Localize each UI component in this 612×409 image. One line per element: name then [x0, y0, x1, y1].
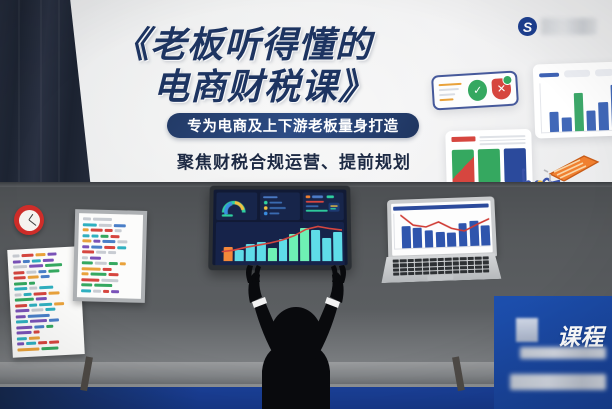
key[interactable]: [401, 272, 408, 275]
key[interactable]: [438, 271, 445, 274]
key[interactable]: [430, 271, 437, 274]
subtitle-secondary: 聚焦财税合规运营、提前规划: [163, 148, 425, 173]
key[interactable]: [415, 267, 422, 270]
document-row: [83, 223, 139, 227]
check-icon: ✓: [468, 79, 488, 101]
document-content: [77, 213, 143, 299]
key[interactable]: [400, 263, 407, 266]
key[interactable]: [475, 257, 482, 260]
key[interactable]: [460, 266, 467, 269]
dashboard-trend-line: [221, 225, 342, 261]
key[interactable]: [393, 259, 400, 262]
key[interactable]: [475, 261, 482, 264]
card-report-doc: [445, 129, 532, 189]
key[interactable]: [452, 262, 459, 265]
key[interactable]: [438, 262, 445, 265]
report-text-lines: [479, 135, 525, 145]
wall-clock-icon: [14, 205, 44, 235]
key[interactable]: [453, 270, 460, 273]
document-row: [82, 239, 138, 243]
card-approval-tag: ✓ ✕: [431, 70, 519, 110]
key[interactable]: [438, 266, 445, 269]
key[interactable]: [460, 257, 467, 260]
card-report-header: [451, 135, 525, 146]
key[interactable]: [475, 265, 482, 268]
brand-logo-icon: S: [518, 17, 537, 36]
document-row: [82, 267, 138, 271]
laptop-keyboard[interactable]: [393, 256, 489, 275]
key[interactable]: [408, 263, 415, 266]
laptop-screen[interactable]: [391, 200, 493, 255]
laptop-lid: [387, 196, 497, 260]
banner-line-redacted: [520, 347, 606, 359]
key[interactable]: [452, 257, 459, 260]
key[interactable]: [460, 270, 467, 273]
key[interactable]: [430, 267, 437, 270]
document-row: [82, 245, 138, 249]
document-row: [83, 228, 139, 232]
key[interactable]: [445, 270, 452, 273]
key[interactable]: [445, 266, 452, 269]
widget-stats: [303, 193, 344, 221]
document-row: [82, 234, 138, 238]
document-row: [17, 345, 79, 351]
key[interactable]: [408, 267, 415, 270]
document-row: [82, 256, 138, 260]
key[interactable]: [482, 265, 489, 268]
subtitle-badge-label: 专为电商及上下游老板量身打造: [187, 115, 398, 136]
key[interactable]: [482, 261, 489, 264]
banner-line2-redacted: [510, 374, 606, 390]
document-row: [82, 261, 138, 265]
desk-document-right: [73, 209, 147, 303]
subtitle-badge: 专为电商及上下游老板量身打造: [167, 113, 419, 138]
clock-face: [19, 210, 40, 231]
key[interactable]: [393, 272, 400, 275]
key[interactable]: [430, 262, 437, 265]
bar: [549, 112, 559, 132]
key[interactable]: [423, 271, 430, 274]
key[interactable]: [430, 258, 437, 261]
dashboard-bar-chart: [215, 222, 344, 265]
tag-text-lines: [439, 83, 463, 102]
laptop-trackpad[interactable]: [427, 275, 453, 281]
key[interactable]: [475, 269, 482, 272]
key[interactable]: [468, 265, 475, 268]
cross-icon: ✕: [491, 78, 511, 100]
dashboard-top-widgets: [216, 193, 344, 221]
key[interactable]: [467, 257, 474, 260]
document-row: [81, 289, 137, 293]
report-color-blocks: [452, 148, 527, 184]
brand-logo-glyph: S: [523, 20, 532, 34]
key[interactable]: [467, 261, 474, 264]
presenter-silhouette: [222, 263, 370, 409]
key[interactable]: [482, 256, 489, 259]
key[interactable]: [423, 263, 430, 266]
notification-dot-icon: [502, 75, 513, 86]
bar: [573, 93, 584, 132]
laptop-trend-line: [400, 207, 490, 248]
key[interactable]: [423, 258, 430, 261]
key[interactable]: [437, 258, 444, 261]
key[interactable]: [453, 266, 460, 269]
laptop-device[interactable]: [379, 196, 502, 282]
key[interactable]: [393, 268, 400, 271]
card-bar-chart-plot: [539, 81, 612, 134]
document-row: [83, 217, 139, 221]
key[interactable]: [415, 263, 422, 266]
key[interactable]: [445, 262, 452, 265]
document-row: [81, 283, 137, 287]
page-title-line2: 电商财税课》: [153, 58, 375, 110]
key[interactable]: [408, 272, 415, 275]
key[interactable]: [483, 269, 490, 272]
card-bar-chart: [533, 61, 612, 138]
document-row: [81, 278, 137, 282]
key[interactable]: [415, 271, 422, 274]
tablet-screen[interactable]: [212, 190, 347, 266]
widget-donut: [216, 193, 257, 221]
tablet-device[interactable]: [208, 186, 352, 271]
document-row: [82, 250, 138, 254]
bar: [562, 118, 572, 132]
brand-name-redacted: [541, 18, 597, 35]
key[interactable]: [460, 261, 467, 264]
key[interactable]: [415, 259, 422, 262]
document-row: [81, 272, 137, 276]
key[interactable]: [468, 270, 475, 273]
key[interactable]: [400, 268, 407, 271]
key[interactable]: [393, 264, 400, 267]
widget-kpi-list: [260, 193, 301, 221]
report-title-bar: [451, 136, 475, 142]
poster-canvas: 《老板听得懂的 电商财税课》 专为电商及上下游老板量身打造 聚焦财税合规运营、提…: [0, 0, 612, 409]
key[interactable]: [423, 267, 430, 270]
key[interactable]: [408, 259, 415, 262]
card-bar-chart-header: [539, 69, 612, 79]
banner-occluded-char: [516, 318, 538, 342]
key[interactable]: [445, 258, 452, 261]
bar: [598, 102, 608, 131]
bar: [586, 111, 596, 131]
key[interactable]: [400, 259, 407, 262]
